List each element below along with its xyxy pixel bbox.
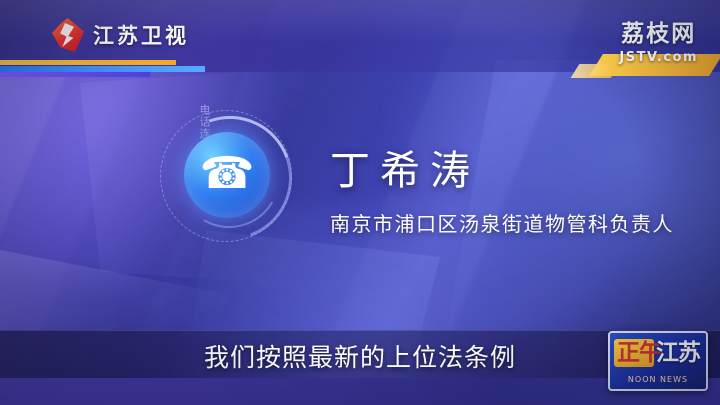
channel-logo: 江苏卫视 [50,18,189,52]
phone-call-graphic: 电话连线 ☎ [160,110,300,250]
header-stripe-purple [0,72,150,77]
phone-circle: ☎ [184,132,270,218]
program-badge-en: NOON NEWS [610,375,706,384]
channel-logo-label: 江苏卫视 [93,20,189,50]
broadcast-screenshot: 江苏卫视 荔枝网 JSTV.com 电话连线 ☎ 丁希涛 南京市浦口区汤泉街道物… [0,0,720,405]
speaker-name: 丁希涛 [330,138,674,196]
jiangsu-tv-flame-logo-icon [50,18,84,52]
speaker-title: 南京市浦口区汤泉街道物管科负责人 [330,208,674,237]
speaker-info: 丁希涛 南京市浦口区汤泉街道物管科负责人 [330,138,674,237]
program-badge: 正午 江苏 NOON NEWS [608,331,708,391]
header-stripe-yellow [0,60,176,65]
network-logo-cn: 荔枝网 [619,14,698,48]
program-badge-cn-first: 正午 [617,340,661,366]
network-logo: 荔枝网 JSTV.com [619,14,698,65]
network-logo-en: JSTV.com [619,50,698,65]
phone-handset-icon: ☎ [184,131,270,217]
program-badge-cn-second: 江苏 [656,340,700,366]
